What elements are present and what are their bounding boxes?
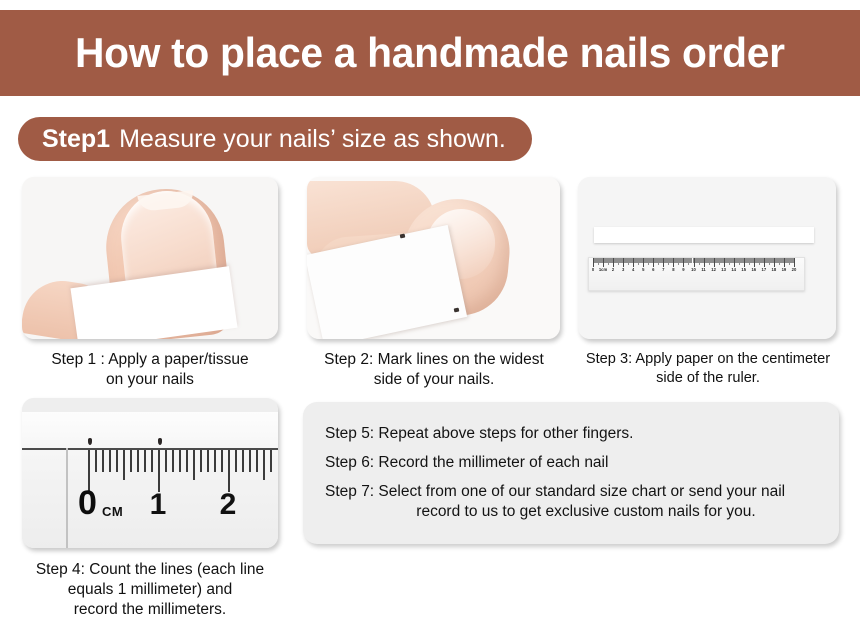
ruler-number: 11	[701, 267, 705, 272]
ruler-tick	[228, 450, 230, 492]
steps-5-7-panel: Step 5: Repeat above steps for other fin…	[303, 402, 839, 544]
ruler-tick-marks	[589, 258, 804, 267]
ruler-tick	[200, 450, 202, 472]
step-7-text: Step 7: Select from one of our standard …	[325, 482, 821, 522]
ruler-edge-line	[22, 448, 278, 450]
ruler-tick	[102, 450, 104, 472]
ruler-tick	[263, 450, 265, 480]
ruler-tick	[130, 450, 132, 472]
header-banner: How to place a handmade nails order	[0, 10, 860, 96]
ruler-tick	[109, 450, 111, 472]
ruler-unit-label: CM	[102, 504, 123, 519]
paper-strip-shape	[594, 227, 814, 243]
ruler-tick	[221, 450, 223, 472]
step1-pill-label: Step1	[42, 125, 110, 154]
pencil-mark-icon	[158, 438, 162, 445]
caption-line: Step 1 : Apply a paper/tissue	[14, 350, 286, 370]
ruler-body-shape: 0 CM 123	[22, 412, 278, 548]
ruler-tick	[116, 450, 118, 472]
caption-line: side of the ruler.	[572, 369, 844, 388]
caption-step-1: Step 1 : Apply a paper/tissue on your na…	[14, 350, 286, 390]
ruler-tick	[214, 450, 216, 472]
mark-lines-photo	[307, 177, 560, 339]
ruler-inner-border	[66, 448, 68, 548]
ruler-paper-photo: 01cm234567891011121314151617181920	[578, 177, 836, 339]
caption-step-3: Step 3: Apply paper on the centimeter si…	[572, 350, 844, 387]
ruler-tick	[95, 450, 97, 472]
ruler-number: 14	[731, 267, 736, 272]
caption-step-4: Step 4: Count the lines (each line equal…	[14, 560, 286, 619]
ruler-tick	[249, 450, 251, 472]
caption-line: on your nails	[14, 370, 286, 390]
ruler-number: 5	[642, 267, 644, 272]
ruler-tick	[242, 450, 244, 472]
ruler-tick	[186, 450, 188, 472]
caption-line: Step 4: Count the lines (each line	[14, 560, 286, 580]
ruler-number: 6	[652, 267, 654, 272]
ruler-tick	[256, 450, 258, 472]
ruler-number: 2	[612, 267, 614, 272]
ruler-number: 4	[632, 267, 634, 272]
ruler-number: 12	[711, 267, 716, 272]
ruler-number: 2	[220, 490, 237, 520]
step-5-text: Step 5: Repeat above steps for other fin…	[325, 424, 821, 444]
ruler-number: 10	[691, 267, 696, 272]
ruler-number: 0	[592, 267, 594, 272]
ruler-number: 1cm	[599, 267, 607, 272]
ruler-number: 18	[772, 267, 777, 272]
caption-line: Step 3: Apply paper on the centimeter	[572, 350, 844, 369]
step-6-text: Step 6: Record the millimeter of each na…	[325, 453, 821, 473]
ruler-number: 19	[782, 267, 787, 272]
pencil-mark-icon	[88, 438, 92, 445]
ruler-tick	[123, 450, 125, 480]
ruler-tick	[158, 450, 160, 492]
ruler-number: 16	[751, 267, 756, 272]
finger-tissue-photo	[22, 177, 278, 339]
step1-pill: Step1 Measure your nails’ size as shown.	[18, 117, 532, 161]
ruler-tick	[165, 450, 167, 472]
caption-line: side of your nails.	[300, 370, 568, 390]
ruler-number: 15	[741, 267, 746, 272]
caption-line: record the millimeters.	[14, 600, 286, 620]
ruler-number: 9	[682, 267, 684, 272]
ruler-number: 8	[672, 267, 674, 272]
step-7-line-2: record to us to get exclusive custom nai…	[325, 502, 821, 522]
page-title: How to place a handmade nails order	[75, 29, 785, 77]
ruler-tick	[207, 450, 209, 472]
ruler-tick	[270, 450, 272, 472]
ruler-number: 7	[662, 267, 664, 272]
ruler-number: 20	[792, 267, 797, 272]
ruler-tick	[179, 450, 181, 472]
ruler-tick	[151, 450, 153, 472]
ruler-tick	[193, 450, 195, 480]
ruler-tick	[137, 450, 139, 472]
caption-line: Step 2: Mark lines on the widest	[300, 350, 568, 370]
ruler-number: 1	[150, 490, 167, 520]
ruler-shape: 01cm234567891011121314151617181920	[588, 257, 805, 291]
step-7-line-1: Step 7: Select from one of our standard …	[325, 483, 785, 500]
step1-pill-text: Measure your nails’ size as shown.	[119, 125, 506, 154]
ruler-tick	[172, 450, 174, 472]
ruler-zoom-photo: 0 CM 123	[22, 398, 278, 548]
caption-step-2: Step 2: Mark lines on the widest side of…	[300, 350, 568, 390]
caption-line: equals 1 millimeter) and	[14, 580, 286, 600]
ruler-tick	[235, 450, 237, 472]
ruler-zero-label: 0	[78, 486, 97, 520]
ruler-number: 3	[622, 267, 624, 272]
ruler-number: 13	[721, 267, 726, 272]
ruler-number: 17	[762, 267, 767, 272]
ruler-number-labels: 01cm234567891011121314151617181920	[589, 267, 804, 277]
ruler-tick	[144, 450, 146, 472]
